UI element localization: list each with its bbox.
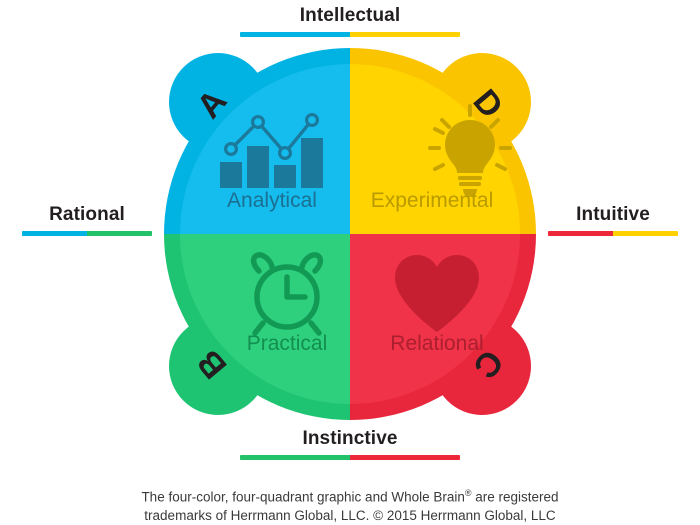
axis-label-rational: Rational bbox=[22, 204, 152, 236]
footer-line-1-before: The four-color, four-quadrant graphic an… bbox=[141, 490, 464, 505]
quadrant-label-practical: Practical bbox=[247, 332, 328, 355]
axis-rule-instinctive bbox=[240, 455, 460, 460]
axis-label-instinctive: Instinctive bbox=[240, 428, 460, 460]
axis-label-rational-text: Rational bbox=[22, 204, 152, 226]
axis-rule-intellectual-right bbox=[350, 32, 460, 37]
axis-label-intellectual-text: Intellectual bbox=[240, 5, 460, 27]
footer-line-1: The four-color, four-quadrant graphic an… bbox=[0, 484, 700, 507]
axis-rule-intellectual bbox=[240, 32, 460, 37]
axis-label-intuitive: Intuitive bbox=[548, 204, 678, 236]
axis-rule-rational-left bbox=[22, 231, 87, 236]
axis-rule-rational bbox=[22, 231, 152, 236]
axis-rule-instinctive-left bbox=[240, 455, 350, 460]
whole-brain-wheel: A D B C bbox=[150, 48, 550, 420]
axis-label-intellectual: Intellectual bbox=[240, 5, 460, 37]
axis-rule-intuitive-right bbox=[613, 231, 678, 236]
axis-rule-instinctive-right bbox=[350, 455, 460, 460]
registered-mark-icon: ® bbox=[465, 488, 472, 498]
axis-rule-intellectual-left bbox=[240, 32, 350, 37]
axis-rule-rational-right bbox=[87, 231, 152, 236]
footer-legal-text: The four-color, four-quadrant graphic an… bbox=[0, 484, 700, 525]
footer-line-2: trademarks of Herrmann Global, LLC. © 20… bbox=[0, 507, 700, 525]
axis-label-instinctive-text: Instinctive bbox=[240, 428, 460, 450]
footer-line-1-after: are registered bbox=[472, 490, 559, 505]
quadrant-label-experimental: Experimental bbox=[371, 189, 494, 212]
axis-label-intuitive-text: Intuitive bbox=[548, 204, 678, 226]
axis-rule-intuitive bbox=[548, 231, 678, 236]
diagram-canvas: Intellectual Rational Intuitive Instinct… bbox=[0, 0, 700, 525]
axis-rule-intuitive-left bbox=[548, 231, 613, 236]
quadrant-label-relational: Relational bbox=[390, 332, 483, 355]
quadrant-label-analytical: Analytical bbox=[227, 189, 317, 212]
